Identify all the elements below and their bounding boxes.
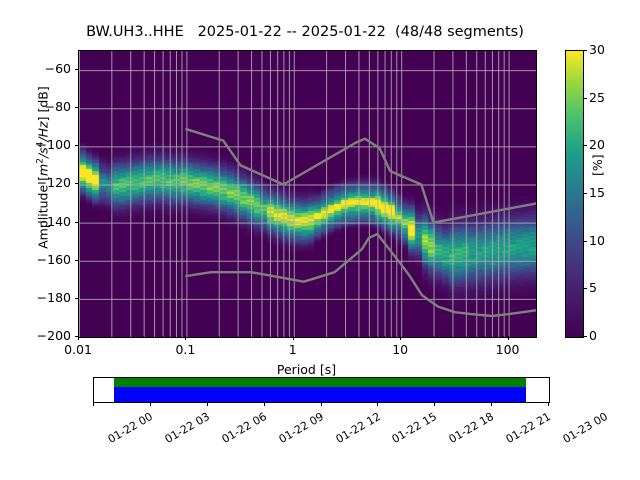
timeline-tick-mark [548,402,549,406]
x-tick-mark [400,336,401,340]
colorbar-tick-mark [583,98,587,99]
x-minor-tick-mark [484,336,485,338]
x-minor-tick-mark [169,336,170,338]
colorbar-tick-label: 5 [589,280,597,295]
ppsd-density-heatmap [79,51,536,337]
y-axis-label: Amplitude [m2/s4/Hz] [dB] [35,38,50,298]
x-minor-tick-mark [129,336,130,338]
x-minor-tick-mark [282,336,283,338]
ppsd-figure: BW.UH3..HHE 2025-01-22 -- 2025-01-22 (48… [0,0,640,480]
x-minor-tick-mark [162,336,163,338]
x-minor-tick-mark [368,336,369,338]
y-tick-mark [75,298,79,299]
timeline-tick-mark [377,402,378,406]
y-tick-mark [75,222,79,223]
x-tick-label: 0.01 [38,342,118,357]
colorbar-tick-mark [583,288,587,289]
coverage-bar-blue [114,387,526,402]
x-minor-tick-mark [357,336,358,338]
colorbar-tick-label: 30 [589,42,605,57]
x-minor-tick-mark [269,336,270,338]
x-tick-mark [293,336,294,340]
x-tick-label: 10 [360,342,440,357]
x-minor-tick-mark [451,336,452,338]
colorbar-tick-label: 25 [589,90,605,105]
x-minor-tick-mark [143,336,144,338]
colorbar-tick-mark [583,336,587,337]
timeline-tick-label: 01-22 18 [447,410,496,446]
data-coverage-timeline[interactable] [93,377,550,403]
y-tick-mark [75,183,79,184]
timeline-tick-mark [207,402,208,406]
colorbar[interactable] [565,50,584,338]
timeline-tick-mark [491,402,492,406]
timeline-tick-label: 01-22 15 [390,410,439,446]
x-minor-tick-mark [344,336,345,338]
x-minor-tick-mark [180,336,181,338]
timeline-tick-mark [321,402,322,406]
x-minor-tick-mark [175,336,176,338]
x-tick-mark [508,336,509,340]
timeline-tick-label: 01-22 09 [276,410,325,446]
x-minor-tick-mark [465,336,466,338]
y-tick-label: −200 [16,328,71,343]
x-tick-label: 1 [253,342,333,357]
colorbar-tick-mark [583,145,587,146]
timeline-tick-label: 01-22 00 [106,410,155,446]
y-tick-mark [75,107,79,108]
y-tick-mark [75,145,79,146]
x-minor-tick-mark [153,336,154,338]
timeline-tick-mark [150,402,151,406]
y-tick-mark [75,69,79,70]
colorbar-tick-label: 0 [589,328,597,343]
x-tick-mark [78,336,79,340]
x-minor-tick-mark [260,336,261,338]
x-minor-tick-mark [325,336,326,338]
colorbar-tick-mark [583,50,587,51]
timeline-tick-label: 01-22 12 [333,410,382,446]
timeline-tick-label: 01-22 03 [163,410,212,446]
x-minor-tick-mark [475,336,476,338]
x-tick-label: 100 [468,342,548,357]
x-minor-tick-mark [250,336,251,338]
timeline-tick-label: 01-23 00 [561,410,610,446]
ppsd-plot-area[interactable] [78,50,537,338]
page-title: BW.UH3..HHE 2025-01-22 -- 2025-01-22 (48… [0,24,610,40]
x-minor-tick-mark [433,336,434,338]
x-minor-tick-mark [497,336,498,338]
timeline-tick-label: 01-22 06 [219,410,268,446]
colorbar-tick-mark [583,241,587,242]
x-minor-tick-mark [237,336,238,338]
colorbar-tick-label: 15 [589,185,605,200]
timeline-tick-mark [264,402,265,406]
x-minor-tick-mark [276,336,277,338]
colorbar-label: [%] [590,116,605,176]
colorbar-tick-mark [583,193,587,194]
x-minor-tick-mark [503,336,504,338]
x-tick-mark [185,336,186,340]
x-minor-tick-mark [218,336,219,338]
x-minor-tick-mark [384,336,385,338]
colorbar-tick-label: 10 [589,233,605,248]
x-minor-tick-mark [110,336,111,338]
x-minor-tick-mark [288,336,289,338]
coverage-bar-green [114,378,526,387]
x-minor-tick-mark [395,336,396,338]
x-minor-tick-mark [376,336,377,338]
y-tick-mark [75,260,79,261]
x-minor-tick-mark [491,336,492,338]
x-minor-tick-mark [390,336,391,338]
timeline-tick-label: 01-22 21 [504,410,553,446]
x-tick-label: 0.1 [145,342,225,357]
timeline-tick-mark [434,402,435,406]
timeline-tick-mark [93,402,94,406]
x-axis-label: Period [s] [78,362,535,377]
